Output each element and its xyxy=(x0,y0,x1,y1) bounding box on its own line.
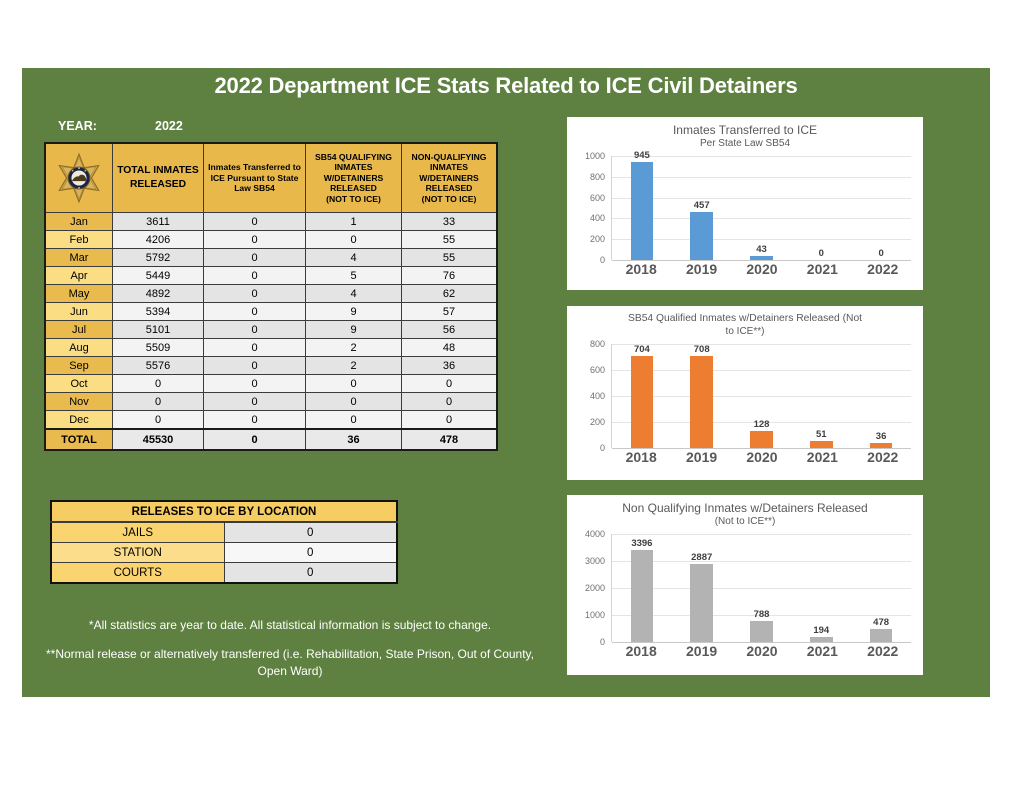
chart-bars: 7047081285136 xyxy=(612,344,911,448)
cell-non-qualifying: 33 xyxy=(402,213,498,231)
col-header-line: RELEASED xyxy=(330,183,377,193)
chart-bar[interactable] xyxy=(631,162,654,260)
bar-value-label: 194 xyxy=(793,625,850,636)
bar-value-label: 36 xyxy=(853,431,910,442)
col-header-sb54-qualifying: SB54 QUALIFYING INMATES W/DETAINERS RELE… xyxy=(306,143,402,213)
table-row: Aug55090248 xyxy=(45,339,497,357)
table-header-row: TOTAL INMATES RELEASED Inmates Transferr… xyxy=(45,143,497,213)
table-row: Mar57920455 xyxy=(45,249,497,267)
table-row: Sep55760236 xyxy=(45,357,497,375)
location-label: JAILS xyxy=(51,522,224,543)
cell-non-qualifying: 48 xyxy=(402,339,498,357)
chart-title: Non Qualifying Inmates w/Detainers Relea… xyxy=(567,495,923,516)
chart-grid: 33962887788194478 xyxy=(611,534,911,642)
chart-bar[interactable] xyxy=(631,550,654,642)
x-axis: 20182019202020212022 xyxy=(611,449,913,465)
cell-total-released: 0 xyxy=(113,411,204,430)
year-value: 2022 xyxy=(155,119,183,133)
bar-value-label: 788 xyxy=(733,609,790,620)
y-axis-tick: 800 xyxy=(590,172,605,182)
col-header-non-qualifying: NON-QUALIFYING INMATES W/DETAINERS RELEA… xyxy=(402,143,498,213)
x-axis: 20182019202020212022 xyxy=(611,261,913,277)
cell-total-released: 0 xyxy=(113,375,204,393)
bar-slot[interactable]: 36 xyxy=(853,344,910,448)
month-label: May xyxy=(45,285,113,303)
chart-bar[interactable] xyxy=(810,637,833,642)
total-total-released: 45530 xyxy=(113,429,204,450)
y-axis-tick: 200 xyxy=(590,234,605,244)
cell-non-qualifying: 0 xyxy=(402,411,498,430)
bar-value-label: 51 xyxy=(793,429,850,440)
year-row: YEAR: 2022 xyxy=(58,119,288,137)
bar-slot[interactable]: 457 xyxy=(673,156,730,260)
list-item: JAILS0 xyxy=(51,522,397,543)
sheriff-star-badge-icon xyxy=(46,146,112,210)
x-axis-tick: 2018 xyxy=(613,643,670,659)
chart-bar[interactable] xyxy=(631,356,654,448)
y-axis-tick: 400 xyxy=(590,391,605,401)
month-label: Jul xyxy=(45,321,113,339)
y-axis-tick: 200 xyxy=(590,417,605,427)
cell-sb54-qualifying: 2 xyxy=(306,357,402,375)
cell-total-released: 5509 xyxy=(113,339,204,357)
cell-sb54-qualifying: 0 xyxy=(306,231,402,249)
cell-non-qualifying: 0 xyxy=(402,393,498,411)
x-axis-tick: 2022 xyxy=(854,449,911,465)
cell-transferred-to-ice: 0 xyxy=(204,231,306,249)
cell-transferred-to-ice: 0 xyxy=(204,285,306,303)
chart-panel-non-qualifying: Non Qualifying Inmates w/Detainers Relea… xyxy=(567,495,923,675)
cell-sb54-qualifying: 0 xyxy=(306,393,402,411)
chart-subtitle: to ICE**) xyxy=(567,326,923,338)
cell-transferred-to-ice: 0 xyxy=(204,411,306,430)
cell-non-qualifying: 76 xyxy=(402,267,498,285)
chart-bar[interactable] xyxy=(870,629,893,642)
location-value: 0 xyxy=(224,522,397,543)
y-axis-tick: 400 xyxy=(590,213,605,223)
col-header-transferred-to-ice: Inmates Transferred to ICE Pursuant to S… xyxy=(204,143,306,213)
monthly-stats-table: TOTAL INMATES RELEASED Inmates Transferr… xyxy=(44,142,498,451)
chart-grid: 9454574300 xyxy=(611,156,911,260)
bar-slot[interactable]: 708 xyxy=(673,344,730,448)
cell-total-released: 0 xyxy=(113,393,204,411)
bar-value-label: 704 xyxy=(614,344,671,355)
location-header-row: RELEASES TO ICE BY LOCATION xyxy=(51,501,397,522)
table-row: Jun53940957 xyxy=(45,303,497,321)
cell-non-qualifying: 36 xyxy=(402,357,498,375)
x-axis-tick: 2021 xyxy=(794,449,851,465)
y-axis-tick: 1000 xyxy=(585,610,605,620)
chart-bars: 9454574300 xyxy=(612,156,911,260)
releases-by-location-table: RELEASES TO ICE BY LOCATION JAILS0STATIO… xyxy=(50,500,398,584)
gridline xyxy=(612,260,911,261)
bar-slot[interactable]: 128 xyxy=(733,344,790,448)
list-item: COURTS0 xyxy=(51,563,397,584)
table-row: May48920462 xyxy=(45,285,497,303)
col-header-line: SB54 QUALIFYING xyxy=(315,152,392,162)
list-item: STATION0 xyxy=(51,543,397,563)
y-axis-tick: 0 xyxy=(600,443,605,453)
cell-non-qualifying: 0 xyxy=(402,375,498,393)
table-row: Dec0000 xyxy=(45,411,497,430)
chart-bar[interactable] xyxy=(750,431,773,448)
x-axis-tick: 2018 xyxy=(613,261,670,277)
x-axis-tick: 2019 xyxy=(673,643,730,659)
bar-slot[interactable]: 478 xyxy=(853,534,910,642)
page-title: 2022 Department ICE Stats Related to ICE… xyxy=(22,73,990,99)
y-axis: 0200400600800 xyxy=(575,344,609,448)
table-row: Jan36110133 xyxy=(45,213,497,231)
month-label: Oct xyxy=(45,375,113,393)
x-axis: 20182019202020212022 xyxy=(611,643,913,659)
bar-value-label: 0 xyxy=(853,248,910,259)
cell-total-released: 4892 xyxy=(113,285,204,303)
bar-value-label: 945 xyxy=(614,150,671,161)
bar-slot[interactable]: 3396 xyxy=(614,534,671,642)
y-axis-tick: 600 xyxy=(590,365,605,375)
bar-slot[interactable]: 194 xyxy=(793,534,850,642)
bar-slot[interactable]: 43 xyxy=(733,156,790,260)
location-label: COURTS xyxy=(51,563,224,584)
cell-sb54-qualifying: 4 xyxy=(306,285,402,303)
x-axis-tick: 2020 xyxy=(733,643,790,659)
y-axis-tick: 0 xyxy=(600,255,605,265)
chart-bar[interactable] xyxy=(750,256,773,260)
total-transferred-to-ice: 0 xyxy=(204,429,306,450)
cell-non-qualifying: 56 xyxy=(402,321,498,339)
x-axis-tick: 2021 xyxy=(794,643,851,659)
cell-total-released: 5792 xyxy=(113,249,204,267)
footnote-normal-release: **Normal release or alternatively transf… xyxy=(42,646,538,681)
month-label: Feb xyxy=(45,231,113,249)
bar-value-label: 457 xyxy=(673,200,730,211)
chart-plot-area: 02004006008007047081285136 xyxy=(575,344,913,448)
cell-total-released: 5101 xyxy=(113,321,204,339)
chart-bar[interactable] xyxy=(690,564,713,642)
month-label: Jun xyxy=(45,303,113,321)
col-header-line: (NOT TO ICE) xyxy=(422,194,477,204)
cell-transferred-to-ice: 0 xyxy=(204,375,306,393)
y-axis-tick: 0 xyxy=(600,637,605,647)
cell-sb54-qualifying: 9 xyxy=(306,303,402,321)
cell-sb54-qualifying: 4 xyxy=(306,249,402,267)
y-axis-tick: 4000 xyxy=(585,529,605,539)
cell-transferred-to-ice: 0 xyxy=(204,339,306,357)
col-header-line: ICE Pursuant to State xyxy=(211,173,299,183)
cell-transferred-to-ice: 0 xyxy=(204,213,306,231)
x-axis-tick: 2020 xyxy=(733,261,790,277)
bar-slot[interactable]: 945 xyxy=(614,156,671,260)
month-label: Apr xyxy=(45,267,113,285)
col-header-total-released: TOTAL INMATES RELEASED xyxy=(113,143,204,213)
bar-slot[interactable]: 0 xyxy=(793,156,850,260)
cell-transferred-to-ice: 0 xyxy=(204,303,306,321)
cell-sb54-qualifying: 1 xyxy=(306,213,402,231)
bar-value-label: 3396 xyxy=(614,538,671,549)
chart-subtitle: Per State Law SB54 xyxy=(567,138,923,150)
month-label: Sep xyxy=(45,357,113,375)
x-axis-tick: 2019 xyxy=(673,261,730,277)
cell-sb54-qualifying: 0 xyxy=(306,375,402,393)
chart-plot-area: 020040060080010009454574300 xyxy=(575,156,913,260)
bar-slot[interactable]: 788 xyxy=(733,534,790,642)
y-axis-tick: 2000 xyxy=(585,583,605,593)
y-axis: 01000200030004000 xyxy=(575,534,609,642)
col-header-line: INMATES xyxy=(430,162,468,172)
bar-value-label: 478 xyxy=(853,617,910,628)
x-axis-tick: 2022 xyxy=(854,261,911,277)
y-axis-tick: 3000 xyxy=(585,556,605,566)
slide-panel: 2022 Department ICE Stats Related to ICE… xyxy=(22,68,990,697)
cell-transferred-to-ice: 0 xyxy=(204,357,306,375)
table-row: Oct0000 xyxy=(45,375,497,393)
col-header-line: W/DETAINERS xyxy=(419,173,479,183)
col-header-line: RELEASED xyxy=(130,179,186,190)
x-axis-tick: 2021 xyxy=(794,261,851,277)
location-value: 0 xyxy=(224,543,397,563)
x-axis-tick: 2018 xyxy=(613,449,670,465)
chart-plot-area: 0100020003000400033962887788194478 xyxy=(575,534,913,642)
cell-total-released: 5394 xyxy=(113,303,204,321)
chart-bar[interactable] xyxy=(870,443,893,448)
y-axis-tick: 1000 xyxy=(585,151,605,161)
y-axis-tick: 600 xyxy=(590,193,605,203)
col-header-line: TOTAL INMATES xyxy=(117,165,199,176)
cell-non-qualifying: 62 xyxy=(402,285,498,303)
chart-title: Inmates Transferred to ICE xyxy=(567,117,923,138)
month-label: Nov xyxy=(45,393,113,411)
gridline xyxy=(612,448,911,449)
bar-slot[interactable]: 51 xyxy=(793,344,850,448)
month-label: Dec xyxy=(45,411,113,430)
year-label: YEAR: xyxy=(58,119,97,133)
y-axis: 02004006008001000 xyxy=(575,156,609,260)
cell-total-released: 5576 xyxy=(113,357,204,375)
cell-sb54-qualifying: 0 xyxy=(306,411,402,430)
chart-panel-inmates-transferred: Inmates Transferred to ICEPer State Law … xyxy=(567,117,923,290)
cell-non-qualifying: 55 xyxy=(402,249,498,267)
chart-grid: 7047081285136 xyxy=(611,344,911,448)
cell-sb54-qualifying: 5 xyxy=(306,267,402,285)
cell-transferred-to-ice: 0 xyxy=(204,321,306,339)
bar-value-label: 43 xyxy=(733,244,790,255)
bar-slot[interactable]: 2887 xyxy=(673,534,730,642)
x-axis-tick: 2019 xyxy=(673,449,730,465)
table-row: Feb42060055 xyxy=(45,231,497,249)
chart-bar[interactable] xyxy=(750,621,773,642)
x-axis-tick: 2022 xyxy=(854,643,911,659)
bar-value-label: 2887 xyxy=(673,552,730,563)
col-header-line: W/DETAINERS xyxy=(324,173,384,183)
cell-transferred-to-ice: 0 xyxy=(204,267,306,285)
chart-bars: 33962887788194478 xyxy=(612,534,911,642)
chart-subtitle: (Not to ICE**) xyxy=(567,516,923,528)
col-header-line: Inmates Transferred to xyxy=(208,162,301,172)
cell-total-released: 5449 xyxy=(113,267,204,285)
table-total-row: TOTAL45530036478 xyxy=(45,429,497,450)
col-header-line: INMATES xyxy=(334,162,372,172)
chart-bar[interactable] xyxy=(690,356,713,448)
cell-total-released: 4206 xyxy=(113,231,204,249)
chart-panel-sb54-qualified: SB54 Qualified Inmates w/Detainers Relea… xyxy=(567,306,923,480)
cell-total-released: 3611 xyxy=(113,213,204,231)
location-table-header: RELEASES TO ICE BY LOCATION xyxy=(51,501,397,522)
cell-transferred-to-ice: 0 xyxy=(204,249,306,267)
bar-value-label: 708 xyxy=(673,344,730,355)
location-value: 0 xyxy=(224,563,397,584)
bar-value-label: 0 xyxy=(793,248,850,259)
month-label: Mar xyxy=(45,249,113,267)
chart-bar[interactable] xyxy=(690,212,713,260)
bar-slot[interactable]: 0 xyxy=(853,156,910,260)
cell-sb54-qualifying: 2 xyxy=(306,339,402,357)
table-row: Nov0000 xyxy=(45,393,497,411)
bar-slot[interactable]: 704 xyxy=(614,344,671,448)
total-label: TOTAL xyxy=(45,429,113,450)
bar-value-label: 128 xyxy=(733,419,790,430)
footnote-statistics: *All statistics are year to date. All st… xyxy=(50,617,530,634)
location-label: STATION xyxy=(51,543,224,563)
cell-sb54-qualifying: 9 xyxy=(306,321,402,339)
total-sb54-qualifying: 36 xyxy=(306,429,402,450)
x-axis-tick: 2020 xyxy=(733,449,790,465)
col-header-line: NON-QUALIFYING xyxy=(412,152,487,162)
cell-transferred-to-ice: 0 xyxy=(204,393,306,411)
chart-title: SB54 Qualified Inmates w/Detainers Relea… xyxy=(567,306,923,326)
table-row: Jul51010956 xyxy=(45,321,497,339)
sheriff-badge-cell xyxy=(45,143,113,213)
chart-bar[interactable] xyxy=(810,441,833,448)
month-label: Jan xyxy=(45,213,113,231)
month-label: Aug xyxy=(45,339,113,357)
table-row: Apr54490576 xyxy=(45,267,497,285)
col-header-line: (NOT TO ICE) xyxy=(326,194,381,204)
cell-non-qualifying: 57 xyxy=(402,303,498,321)
col-header-line: Law SB54 xyxy=(234,183,275,193)
gridline xyxy=(612,642,911,643)
total-non-qualifying: 478 xyxy=(402,429,498,450)
y-axis-tick: 800 xyxy=(590,339,605,349)
col-header-line: RELEASED xyxy=(426,183,473,193)
cell-non-qualifying: 55 xyxy=(402,231,498,249)
